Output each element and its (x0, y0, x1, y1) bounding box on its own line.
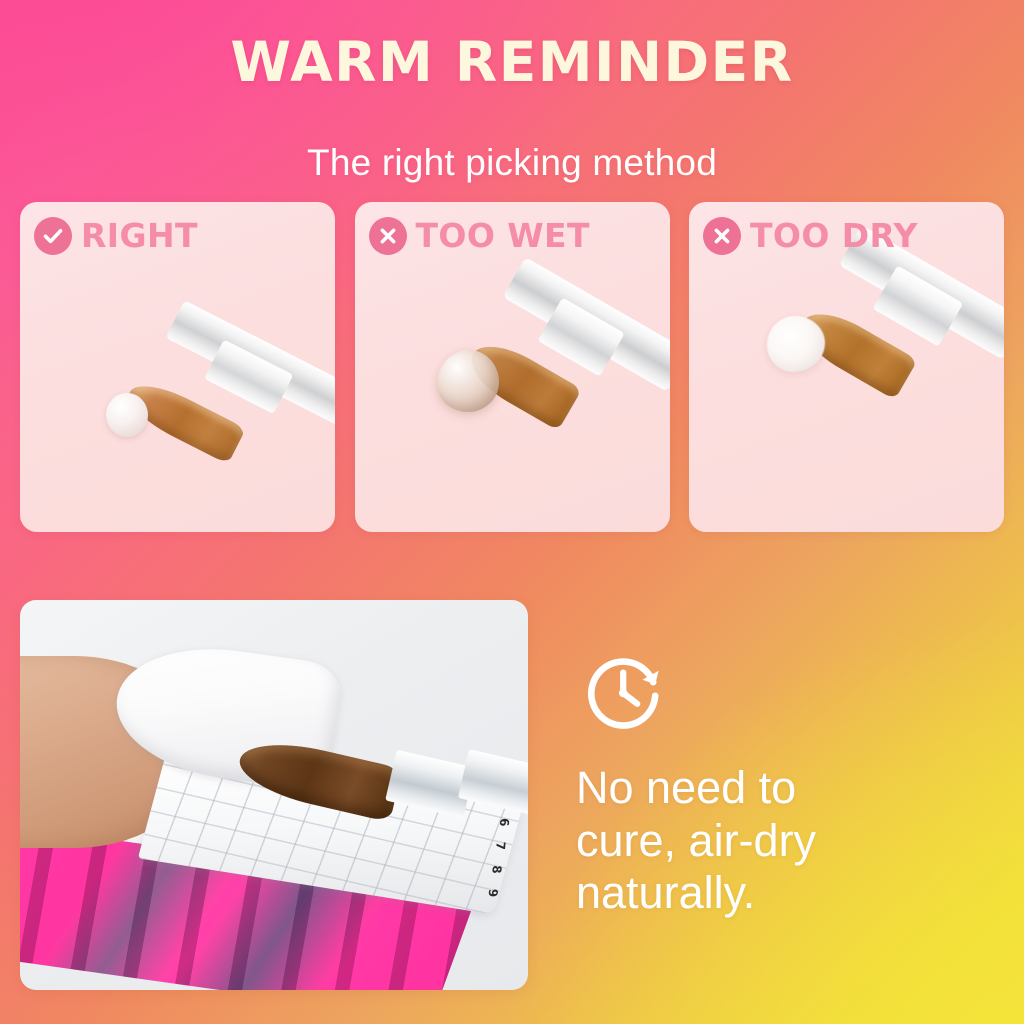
form-number: 6 (496, 818, 511, 826)
x-circle-icon (369, 217, 407, 255)
info-text: No need to cure, air-dry naturally. (576, 762, 1010, 920)
card-header: RIGHT (34, 216, 198, 255)
card-header: TOO WET (369, 216, 590, 255)
card-header: TOO DRY (703, 216, 918, 255)
acrylic-bead-too-dry (767, 316, 825, 372)
info-text-line-2: cure, air-dry (576, 815, 1010, 868)
page-subtitle: The right picking method (0, 142, 1024, 184)
clock-arrow-icon (576, 645, 1010, 746)
acrylic-bead-too-wet (437, 350, 499, 412)
card-label: TOO WET (416, 216, 590, 255)
card-label: TOO DRY (750, 216, 918, 255)
page-title: WARM REMINDER (0, 30, 1024, 94)
check-circle-icon (34, 217, 72, 255)
comparison-card-too-wet: TOO WET (355, 202, 670, 532)
form-number: 9 (485, 889, 500, 897)
comparison-card-right: RIGHT (20, 202, 335, 532)
comparison-card-too-dry: TOO DRY (689, 202, 1004, 532)
infographic-page: WARM REMINDER The right picking method R… (0, 0, 1024, 1024)
info-text-line-1: No need to (576, 762, 1010, 815)
form-number: 7 (493, 842, 508, 850)
acrylic-bead-correct (106, 393, 148, 437)
form-number: 8 (489, 865, 504, 873)
x-circle-icon (703, 217, 741, 255)
info-text-line-3: naturally. (576, 867, 1010, 920)
card-label: RIGHT (81, 216, 198, 255)
comparison-cards: RIGHT TOO WET (20, 202, 1004, 532)
info-block: No need to cure, air-dry naturally. (540, 645, 1010, 920)
demo-photo: 6 7 8 9 (20, 600, 528, 990)
